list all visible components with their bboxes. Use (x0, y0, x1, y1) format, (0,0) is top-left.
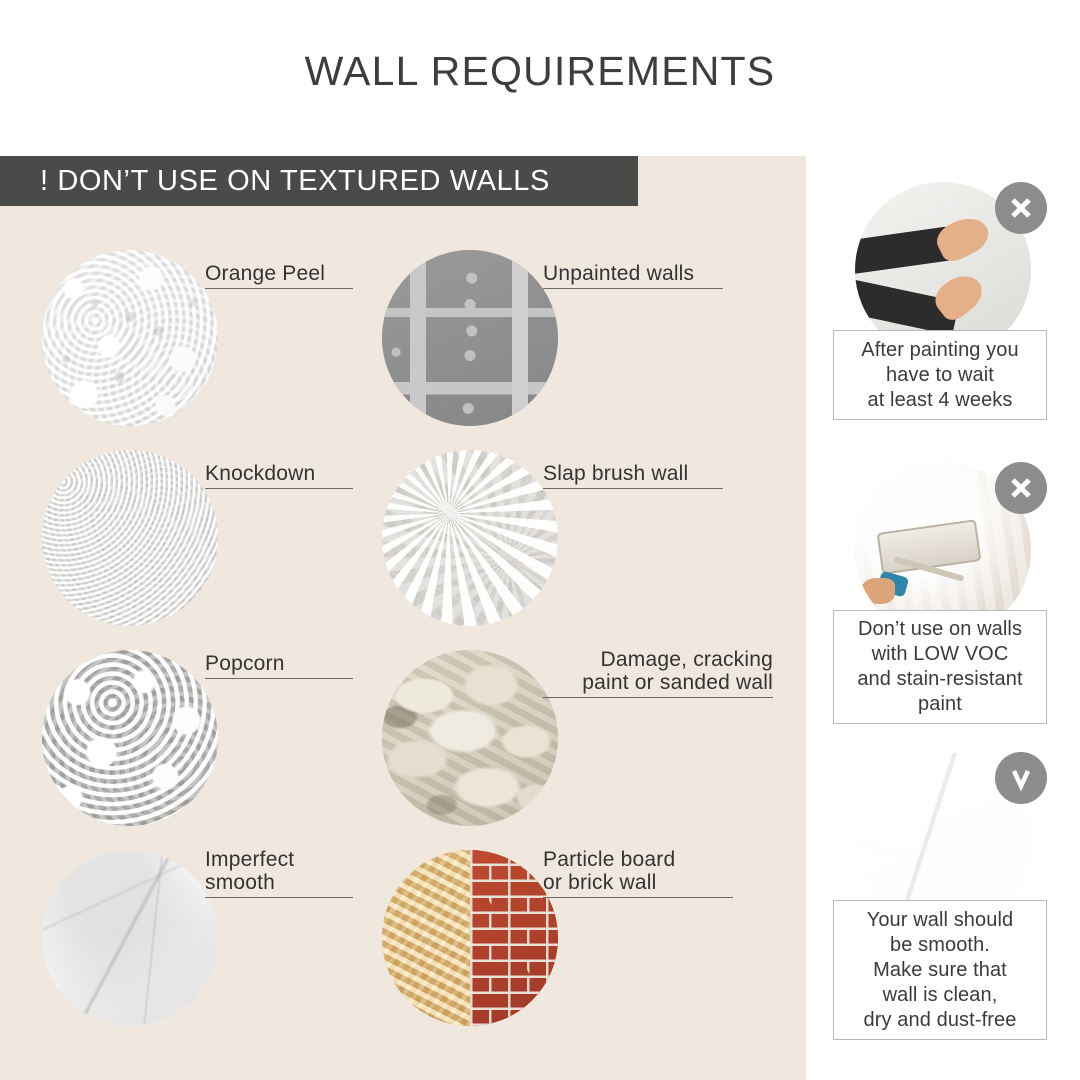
popcorn-label-group: Popcorn (205, 652, 353, 679)
particle-board-brick-texture-icon (382, 850, 558, 1026)
label-underline (205, 897, 353, 898)
texture-label: Orange Peel (205, 262, 353, 288)
imperfect-smooth-label-group: Imperfect smooth (205, 848, 353, 898)
knockdown-texture-icon (42, 450, 218, 626)
advice-card-box: After painting you have to wait at least… (833, 330, 1047, 420)
check-icon (995, 752, 1047, 804)
imperfect-smooth-texture-icon (42, 850, 218, 1026)
unpainted-wall-swatch (382, 250, 558, 426)
texture-label: Knockdown (205, 462, 353, 488)
advice-card-text: After painting you have to wait at least… (857, 332, 1022, 419)
particle-board-half (382, 850, 470, 1026)
slap-brush-swatch (382, 450, 558, 626)
damage-label-group: Damage, cracking paint or sanded wall (543, 648, 773, 698)
label-underline (543, 897, 733, 898)
damaged-paint-texture-icon (382, 650, 558, 826)
popcorn-texture-swatch (42, 650, 218, 826)
advice-card-text: Don’t use on walls with LOW VOC and stai… (853, 611, 1026, 723)
texture-label: Popcorn (205, 652, 353, 678)
orange-peel-label-group: Orange Peel (205, 262, 353, 289)
unpainted-wall-photo-icon (382, 250, 558, 426)
cross-icon (995, 462, 1047, 514)
popcorn-texture-icon (42, 650, 218, 826)
label-underline (543, 288, 723, 289)
orange-peel-texture-icon (42, 250, 218, 426)
infographic-page: WALL REQUIREMENTS ! DON’T USE ON TEXTURE… (0, 0, 1080, 1080)
cross-icon (995, 182, 1047, 234)
unpainted-walls-label-group: Unpainted walls (543, 262, 723, 289)
label-underline (205, 288, 353, 289)
texture-grid: Orange Peel Unpainted walls Knockdown (0, 0, 806, 1080)
label-underline (543, 697, 773, 698)
knockdown-label-group: Knockdown (205, 462, 353, 489)
advice-card-box: Your wall should be smooth. Make sure th… (833, 900, 1047, 1040)
advice-card-text: Your wall should be smooth. Make sure th… (860, 902, 1021, 1039)
label-underline (205, 488, 353, 489)
texture-label: Slap brush wall (543, 462, 723, 488)
slap-brush-texture-icon (382, 450, 558, 626)
label-underline (543, 488, 723, 489)
texture-label: Unpainted walls (543, 262, 723, 288)
slap-brush-label-group: Slap brush wall (543, 462, 723, 489)
knockdown-texture-swatch (42, 450, 218, 626)
advice-card-box: Don’t use on walls with LOW VOC and stai… (833, 610, 1047, 724)
damaged-paint-swatch (382, 650, 558, 826)
texture-label: Damage, cracking paint or sanded wall (543, 648, 773, 697)
texture-label: Imperfect smooth (205, 848, 353, 897)
orange-peel-texture-swatch (42, 250, 218, 426)
imperfect-smooth-swatch (42, 850, 218, 1026)
hand-shape (861, 578, 895, 604)
particle-board-brick-swatch (382, 850, 558, 1026)
texture-label: Particle board or brick wall (543, 848, 733, 897)
particle-board-label-group: Particle board or brick wall (543, 848, 733, 898)
label-underline (205, 678, 353, 679)
